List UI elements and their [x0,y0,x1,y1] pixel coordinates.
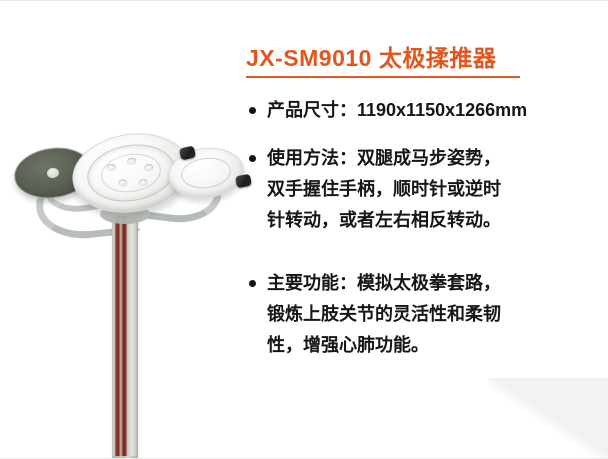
spec-line: 双手握住手柄，顺时针或逆时 [267,174,598,205]
disc-left-hub [46,167,59,179]
spec-item-dimensions: 产品尺寸：1190x1150x1266mm [246,95,598,126]
product-title: JX-SM9010 太极揉推器 [246,43,598,73]
spec-line: 使用方法：双腿成马步姿势， [267,143,598,174]
product-image [8,126,248,376]
product-info: JX-SM9010 太极揉推器 产品尺寸：1190x1150x1266mm 使用… [246,43,598,361]
title-underline [246,76,520,78]
spec-line: 主要功能：模拟太极拳套路， [267,268,598,299]
product-poster: JX-SM9010 太极揉推器 产品尺寸：1190x1150x1266mm 使用… [0,0,608,459]
corner-decoration [488,378,608,458]
spec-line: 产品尺寸：1190x1150x1266mm [267,95,598,126]
disc-right-ring [179,155,233,192]
spec-line: 锻炼上肢关节的灵活性和柔韧 [267,299,598,330]
spec-list: 产品尺寸：1190x1150x1266mm 使用方法：双腿成马步姿势， 双手握住… [246,95,598,361]
support-post [112,216,138,459]
spec-line: 性，增强心肺功能。 [267,330,598,361]
spec-item-usage: 使用方法：双腿成马步姿势， 双手握住手柄，顺时针或逆时 针转动，或者左右相反转动… [246,143,598,236]
spec-item-function: 主要功能：模拟太极拳套路， 锻炼上肢关节的灵活性和柔韧 性，增强心肺功能。 [246,268,598,361]
spec-line: 针转动，或者左右相反转动。 [267,205,598,236]
